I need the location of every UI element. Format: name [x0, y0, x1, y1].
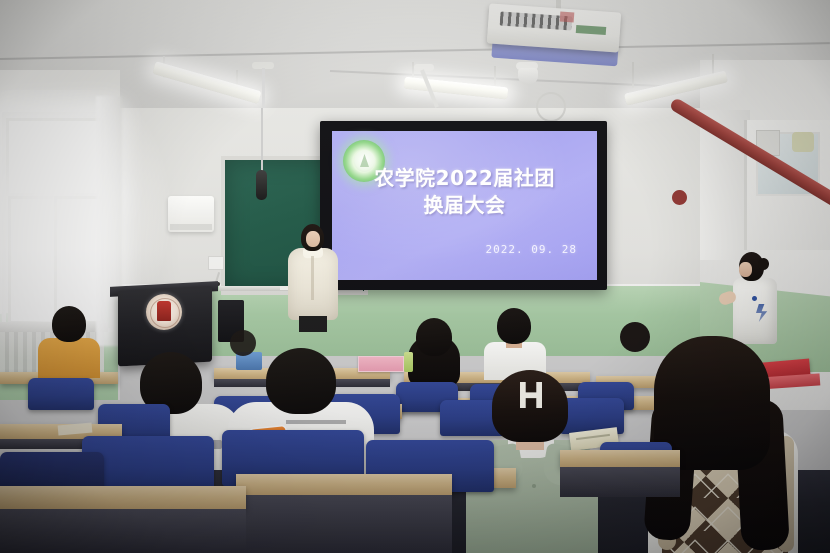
student-long-hair-girl-head — [416, 318, 452, 356]
presenter-face — [306, 231, 320, 247]
wall-switch[interactable] — [208, 256, 224, 270]
hanging-microphone-icon — [256, 170, 267, 200]
cable-coil — [536, 92, 566, 122]
ceiling-camera-icon — [518, 68, 538, 84]
student-white-shirt-head — [497, 308, 531, 344]
slide-date: 2022. 09. 28 — [332, 243, 577, 256]
organizer-face — [739, 262, 752, 277]
student-head — [620, 322, 650, 352]
desk-edge — [560, 467, 680, 497]
university-emblem-mark — [157, 301, 171, 321]
presenter-legs — [299, 316, 327, 332]
presenter-placket — [311, 256, 314, 300]
green-water-bottle — [404, 352, 413, 372]
window-pane-top — [6, 118, 104, 196]
desk — [236, 474, 452, 496]
desk-edge — [0, 509, 246, 553]
slide-title: 农学院2022届社团 换届大会 — [332, 165, 597, 219]
organizer-white-coat-body — [733, 278, 777, 344]
projector-red-label — [560, 12, 575, 23]
student-head — [230, 330, 256, 356]
classroom-photo: 农学院2022届社团 换届大会 2022. 09. 28 — [0, 0, 830, 553]
wall-lamp — [792, 132, 814, 152]
pipe-end-cap — [672, 190, 687, 205]
coat-logo-dot — [752, 296, 757, 301]
desk — [560, 450, 680, 468]
slide-title-line1: 农学院2022届社团 — [332, 165, 597, 192]
student-yellow-shirt-head — [52, 306, 86, 342]
ceiling-stem — [262, 68, 265, 108]
organizer-hair-bun — [758, 258, 769, 270]
student-graphic-tee-head — [266, 348, 336, 414]
student-graphic-tee-text — [286, 420, 346, 424]
student-yellow-shirt-body — [38, 338, 100, 378]
air-conditioner-vent — [170, 224, 212, 230]
chair — [28, 378, 94, 410]
student-sage-hoodie-hair — [492, 370, 568, 442]
student-sage-hoodie-drawstring — [532, 484, 536, 488]
slide-title-line2: 换届大会 — [332, 192, 597, 219]
desk — [0, 486, 246, 510]
desk-edge — [236, 495, 452, 553]
light-rod — [494, 66, 496, 88]
microphone-cable — [261, 108, 263, 172]
name-placard-text — [358, 356, 402, 370]
light-rod — [632, 62, 634, 88]
window-pane-left — [8, 196, 58, 324]
